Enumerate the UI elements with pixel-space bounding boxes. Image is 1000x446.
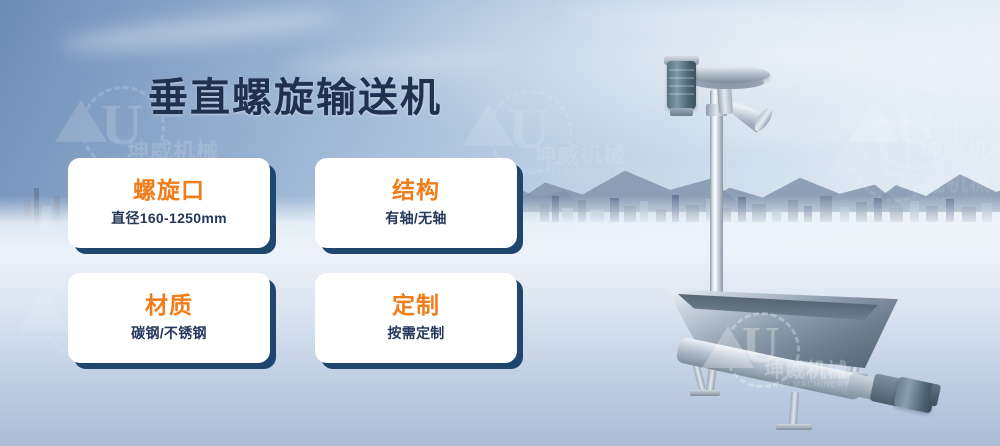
motor-fin	[669, 77, 694, 79]
spec-card-subtitle: 碳钢/不锈钢	[131, 323, 207, 343]
spec-card-title: 材质	[145, 293, 193, 318]
spec-card-subtitle: 按需定制	[387, 323, 444, 343]
spec-card-row: 材质 碳钢/不锈钢 定制 按需定制	[68, 273, 528, 363]
product-banner: U 坤威机械 KUNWEI MACHINERY U 坤威机械 KUNWEI MA…	[0, 0, 1000, 446]
product-image-vertical-screw-conveyor: U 坤威机械 KUNWEI MACHINERY	[640, 18, 1000, 446]
page-title: 垂直螺旋输送机	[148, 78, 442, 118]
support-foot	[690, 390, 720, 396]
motor-fin	[669, 85, 694, 87]
top-motor-foot	[670, 108, 693, 116]
motor-fin	[669, 69, 694, 71]
top-flange-plate	[686, 66, 770, 83]
spec-card-title: 定制	[392, 293, 440, 318]
spec-card-title: 结构	[392, 178, 440, 203]
support-leg	[789, 392, 799, 426]
spec-card-customization[interactable]: 定制 按需定制	[315, 273, 517, 363]
spec-card-subtitle: 有轴/无轴	[385, 208, 446, 228]
vertical-mast-tube	[710, 90, 723, 312]
support-foot	[776, 424, 812, 430]
top-motor	[667, 61, 696, 109]
spec-card-material[interactable]: 材质 碳钢/不锈钢	[68, 273, 270, 363]
spec-card-row: 螺旋口 直径160-1250mm 结构 有轴/无轴	[68, 158, 528, 248]
motor-fin	[669, 93, 694, 95]
spec-card-screw-port[interactable]: 螺旋口 直径160-1250mm	[68, 158, 270, 248]
spec-card-structure[interactable]: 结构 有轴/无轴	[315, 158, 517, 248]
spec-card-subtitle: 直径160-1250mm	[111, 208, 227, 228]
spec-card-title: 螺旋口	[133, 178, 205, 203]
spec-card-grid: 螺旋口 直径160-1250mm 结构 有轴/无轴 材质 碳钢/不锈钢 定制 按…	[68, 158, 528, 388]
